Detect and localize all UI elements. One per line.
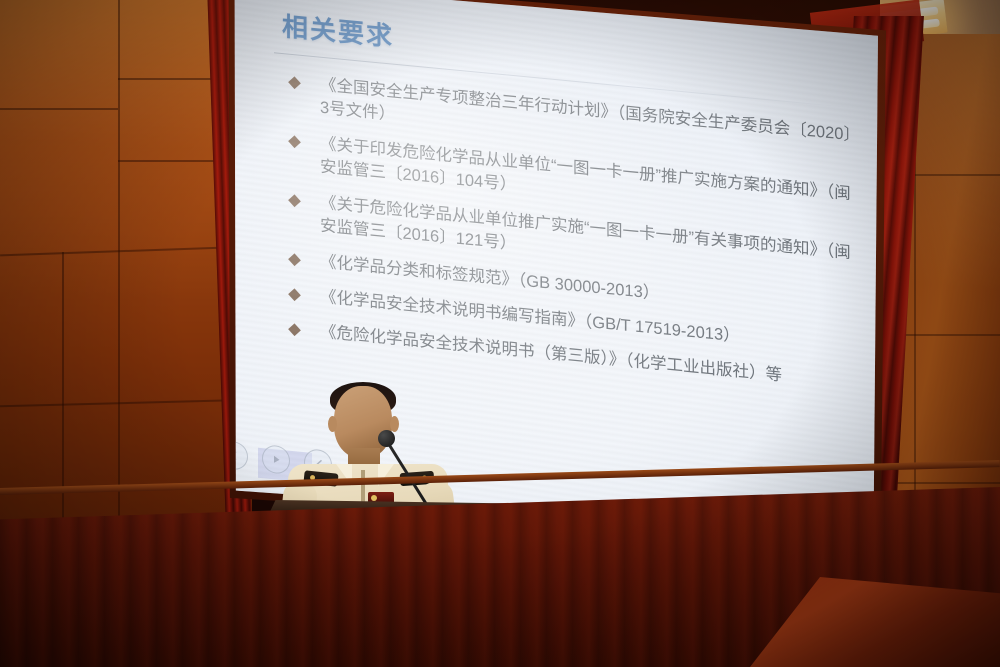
ear-left bbox=[328, 416, 337, 432]
diamond-bullet-icon bbox=[288, 288, 301, 301]
slide-bullet-list: 《全国安全生产专项整治三年行动计划》（国务院安全生产委员会〔2020〕3号文件）… bbox=[260, 68, 866, 396]
diamond-bullet-icon bbox=[288, 324, 301, 337]
mic-capsule bbox=[378, 430, 395, 447]
diamond-bullet-icon bbox=[288, 135, 301, 148]
diamond-bullet-icon bbox=[288, 253, 301, 266]
diamond-bullet-icon bbox=[288, 76, 301, 89]
presentation-room-photo: 相关要求 《全国安全生产专项整治三年行动计划》（国务院安全生产委员会〔2020〕… bbox=[0, 0, 1000, 667]
diamond-bullet-icon bbox=[288, 194, 301, 207]
